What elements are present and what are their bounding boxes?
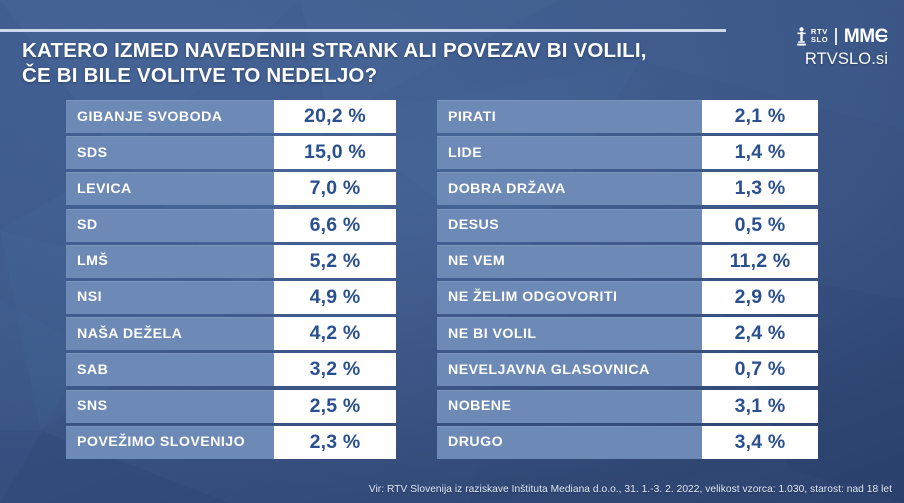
poll-row-label: SDS (66, 136, 274, 169)
poll-row-value: 1,4 % (702, 136, 818, 169)
poll-row-value: 20,2 % (274, 100, 396, 133)
rtv-statue-icon (797, 27, 806, 46)
poll-row: LIDE1,4 % (437, 136, 818, 169)
poll-row-label: DOBRA DRŽAVA (437, 172, 702, 205)
page-title: KATERO IZMED NAVEDENIH STRANK ALI POVEZA… (22, 38, 722, 88)
poll-infographic: KATERO IZMED NAVEDENIH STRANK ALI POVEZA… (0, 0, 904, 503)
poll-row-label: NE VEM (437, 245, 702, 278)
poll-row-value: 2,4 % (702, 317, 818, 350)
poll-row: NAŠA DEŽELA4,2 % (66, 317, 396, 350)
poll-row-value: 2,5 % (274, 390, 396, 423)
mmc-prefix: MM (844, 27, 875, 46)
poll-row-value: 2,9 % (702, 281, 818, 314)
page-title-line-1: KATERO IZMED NAVEDENIH STRANK ALI POVEZA… (22, 39, 647, 62)
poll-row-value: 7,0 % (274, 172, 396, 205)
poll-row: NE VEM11,2 % (437, 245, 818, 278)
poll-row-label: SD (66, 209, 274, 242)
logo-divider (835, 28, 837, 45)
poll-row: PIRATI2,1 % (437, 100, 818, 133)
poll-row: SAB3,2 % (66, 353, 396, 386)
source-footnote: Vir: RTV Slovenija iz raziskave Inštitut… (369, 484, 892, 495)
poll-row-label: SAB (66, 353, 274, 386)
poll-row: POVEŽIMO SLOVENIJO2,3 % (66, 426, 396, 459)
rtv-slo-wordmark: RTV SLO (811, 28, 828, 45)
poll-row-label: NE ŽELIM ODGOVORITI (437, 281, 702, 314)
poll-row: DOBRA DRŽAVA1,3 % (437, 172, 818, 205)
poll-row-value: 3,4 % (702, 426, 818, 459)
site-url[interactable]: RTVSLO.si (797, 50, 888, 69)
page-title-line-2: ČE BI BILE VOLITVE TO NEDELJO? (22, 63, 722, 88)
poll-table-left: GIBANJE SVOBODA20,2 %SDS15,0 %LEVICA7,0 … (66, 100, 396, 462)
poll-row-value: 3,1 % (702, 390, 818, 423)
poll-row-label: LEVICA (66, 172, 274, 205)
poll-row-value: 0,7 % (702, 353, 818, 386)
poll-row: SDS15,0 % (66, 136, 396, 169)
poll-row-label: GIBANJE SVOBODA (66, 100, 274, 133)
poll-row: NSI4,9 % (66, 281, 396, 314)
poll-row: SNS2,5 % (66, 390, 396, 423)
poll-row-label: PIRATI (437, 100, 702, 133)
poll-row: NE BI VOLIL2,4 % (437, 317, 818, 350)
poll-row-label: SNS (66, 390, 274, 423)
poll-table-right: PIRATI2,1 %LIDE1,4 %DOBRA DRŽAVA1,3 %DES… (437, 100, 818, 462)
poll-row-value: 2,1 % (702, 100, 818, 133)
poll-row-label: NSI (66, 281, 274, 314)
poll-row-value: 3,2 % (274, 353, 396, 386)
poll-row-label: POVEŽIMO SLOVENIJO (66, 426, 274, 459)
poll-row: LEVICA7,0 % (66, 172, 396, 205)
poll-row-value: 4,2 % (274, 317, 396, 350)
poll-row: SD6,6 % (66, 209, 396, 242)
poll-row: DRUGO3,4 % (437, 426, 818, 459)
poll-row-label: DESUS (437, 209, 702, 242)
poll-row-label: DRUGO (437, 426, 702, 459)
poll-row-value: 15,0 % (274, 136, 396, 169)
poll-row: NEVELJAVNA GLASOVNICA0,7 % (437, 353, 818, 386)
poll-row-value: 2,3 % (274, 426, 396, 459)
poll-row: NOBENE3,1 % (437, 390, 818, 423)
slo-text: SLO (811, 36, 828, 45)
poll-row: GIBANJE SVOBODA20,2 % (66, 100, 396, 133)
header-rule (0, 29, 726, 32)
poll-row-value: 4,9 % (274, 281, 396, 314)
poll-row-label: NAŠA DEŽELA (66, 317, 274, 350)
poll-row-value: 5,2 % (274, 245, 396, 278)
poll-row-label: LIDE (437, 136, 702, 169)
mmc-c-bar (878, 35, 887, 37)
poll-row-label: NEVELJAVNA GLASOVNICA (437, 353, 702, 386)
poll-row: NE ŽELIM ODGOVORITI2,9 % (437, 281, 818, 314)
poll-row-label: NE BI VOLIL (437, 317, 702, 350)
mmc-wordmark: MM C (844, 27, 888, 46)
poll-row-label: NOBENE (437, 390, 702, 423)
rtvslo-logo-block[interactable]: RTV SLO MM C RTVSLO.si (797, 26, 888, 69)
poll-row: DESUS0,5 % (437, 209, 818, 242)
poll-row-value: 6,6 % (274, 209, 396, 242)
mmc-c-glyph: C (875, 27, 888, 46)
poll-row-value: 1,3 % (702, 172, 818, 205)
poll-row: LMŠ5,2 % (66, 245, 396, 278)
poll-row-label: LMŠ (66, 245, 274, 278)
logo-row: RTV SLO MM C (797, 26, 888, 46)
poll-row-value: 0,5 % (702, 209, 818, 242)
poll-row-value: 11,2 % (702, 245, 818, 278)
